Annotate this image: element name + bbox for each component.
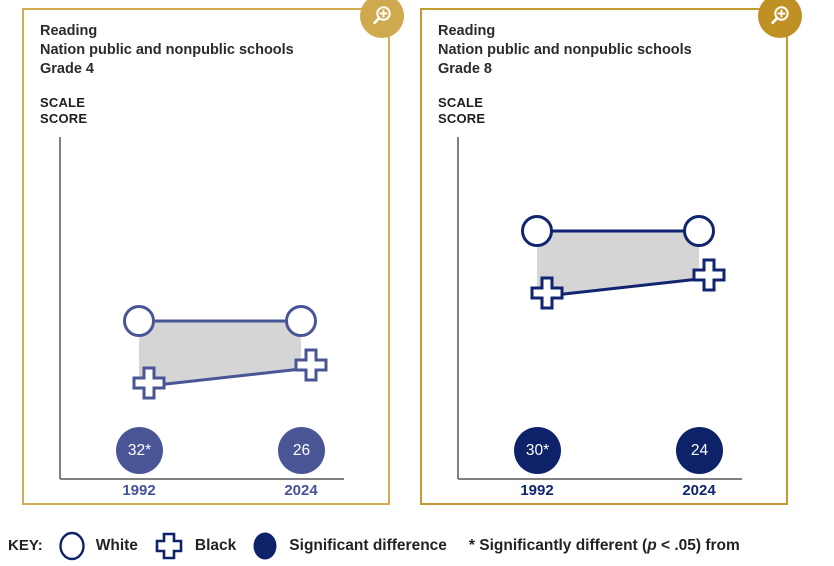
gap-badge-1992-value: 32*: [128, 442, 151, 460]
x-axis-tick-1992: 1992: [104, 482, 174, 499]
chart-panel-grade8: Reading Nation public and nonpublic scho…: [420, 8, 788, 505]
legend-item-black: Black: [152, 529, 236, 563]
legend-footnote-pre: * Significantly different (: [469, 537, 647, 554]
legend-key: KEY: White Black Significant difference …: [0, 525, 834, 566]
x-axis-tick-2024: 2024: [266, 482, 336, 499]
legend-label-black: Black: [195, 537, 236, 555]
marker-white-1992: [523, 217, 552, 246]
figure-root: Reading Nation public and nonpublic scho…: [0, 0, 834, 566]
key-label: KEY:: [8, 537, 43, 554]
gap-badge-1992-value: 30*: [526, 442, 549, 460]
cross-marker-icon: [152, 529, 186, 563]
x-axis-tick-1992: 1992: [502, 482, 572, 499]
marker-white-2024: [685, 217, 714, 246]
marker-white-1992: [125, 307, 154, 336]
marker-white-2024: [287, 307, 316, 336]
legend-footnote-post: < .05) from: [657, 537, 740, 554]
gap-badge-2024-value: 26: [293, 442, 310, 460]
legend-item-significant: Significant difference: [250, 529, 447, 563]
plot-area-grade4: [24, 10, 388, 503]
legend-item-white: White: [57, 530, 138, 562]
legend-label-significant: Significant difference: [289, 537, 447, 555]
gap-badge-2024: 24: [676, 427, 723, 474]
legend-footnote-pvalue: p: [647, 537, 656, 554]
chart-panel-grade4: Reading Nation public and nonpublic scho…: [22, 8, 390, 505]
filled-circle-icon: [250, 529, 280, 563]
gap-badge-1992: 30*: [514, 427, 561, 474]
gap-badge-2024-value: 24: [691, 442, 708, 460]
gap-badge-1992: 32*: [116, 427, 163, 474]
circle-marker-icon: [57, 530, 87, 562]
legend-label-white: White: [96, 537, 138, 555]
x-axis-tick-2024: 2024: [664, 482, 734, 499]
plot-area-grade8: [422, 10, 786, 503]
gap-badge-2024: 26: [278, 427, 325, 474]
legend-footnote: * Significantly different (p < .05) from: [469, 537, 740, 555]
